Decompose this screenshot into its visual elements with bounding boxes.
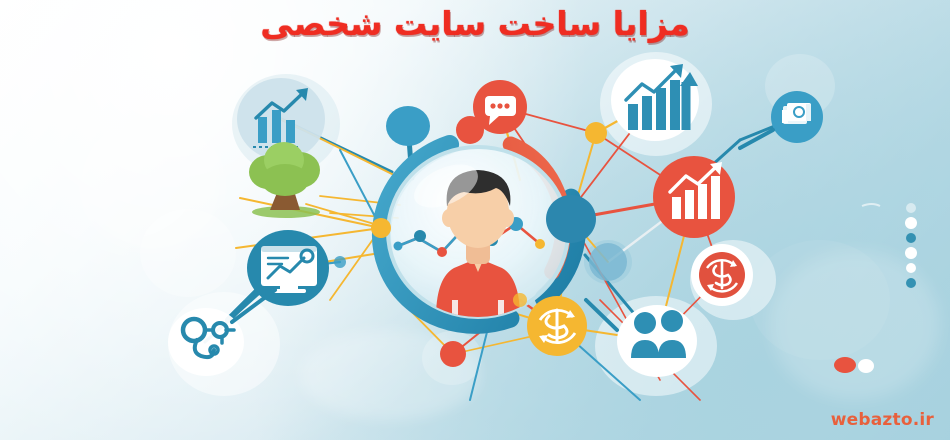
chat-bubble-icon[interactable] xyxy=(473,80,527,134)
infographic-artwork xyxy=(0,0,950,440)
bar-chart-arrows-icon[interactable] xyxy=(611,59,699,141)
watermark-label: webazto.ir xyxy=(831,410,934,430)
currency-cycle-icon[interactable] xyxy=(527,296,587,356)
money-stack-icon[interactable] xyxy=(740,91,823,148)
page-title: مزایا ساخت سایت شخصی xyxy=(0,4,950,43)
analytics-monitor-icon[interactable] xyxy=(228,230,329,320)
infographic-canvas: مزایا ساخت سایت شخصی webazto.ir xyxy=(0,0,950,440)
bar-chart-red-icon[interactable] xyxy=(653,156,735,238)
currency-refresh-icon[interactable] xyxy=(691,244,753,306)
